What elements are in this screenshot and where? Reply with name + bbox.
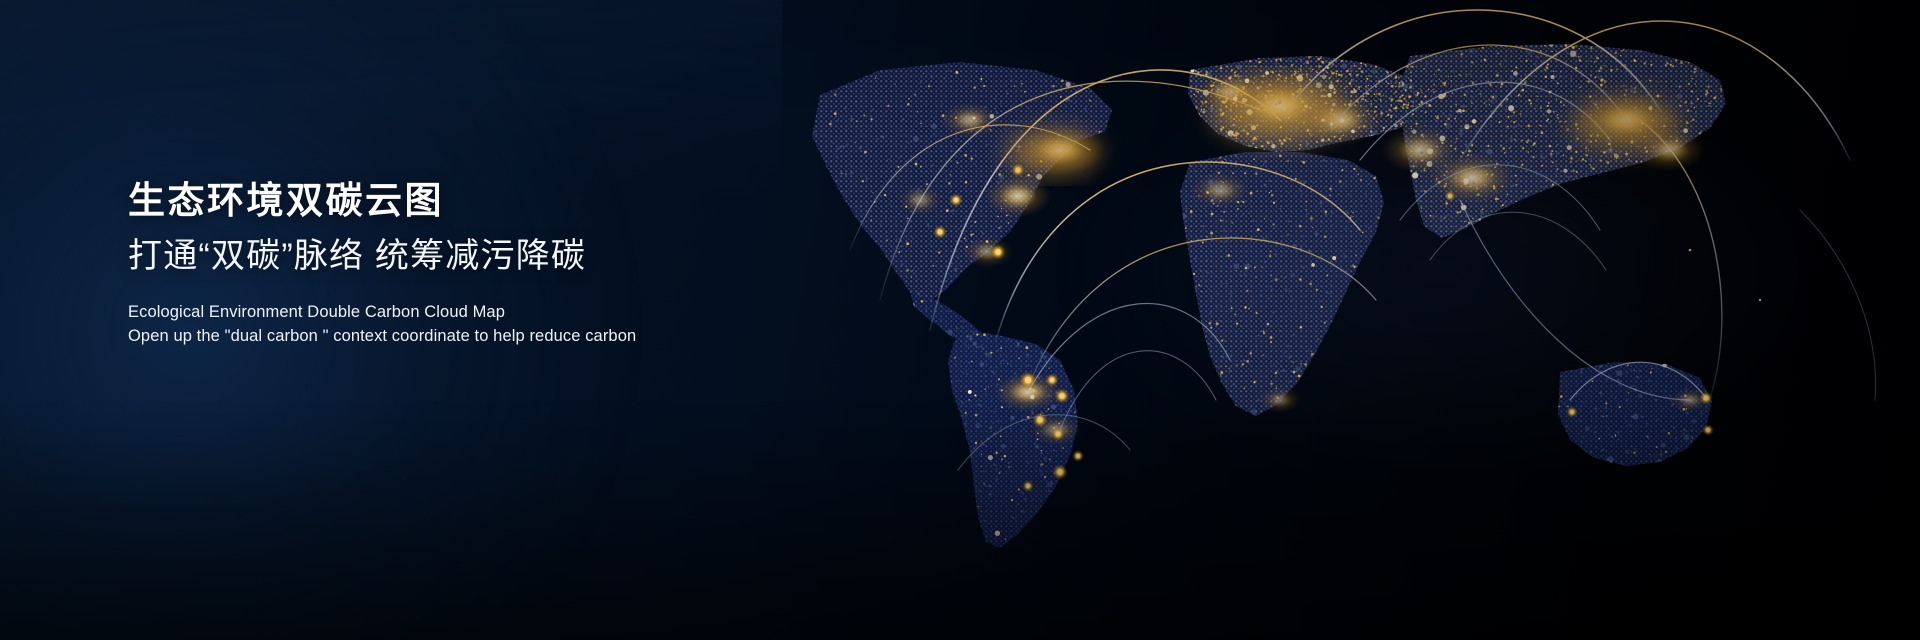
banner-root: 生态环境双碳云图 打通“双碳”脉络 统筹减污降碳 Ecological Envi… xyxy=(0,0,1920,640)
page-title: 生态环境双碳云图 xyxy=(128,182,848,219)
page-subtitle: 打通“双碳”脉络 统筹减污降碳 xyxy=(128,239,848,273)
english-subtitle-line-2: Open up the "dual carbon " context coord… xyxy=(128,325,848,349)
english-subtitle-line-1: Ecological Environment Double Carbon Clo… xyxy=(128,301,848,325)
background-bottom-fade xyxy=(0,400,1920,640)
headline-block: 生态环境双碳云图 打通“双碳”脉络 统筹减污降碳 Ecological Envi… xyxy=(128,182,848,349)
